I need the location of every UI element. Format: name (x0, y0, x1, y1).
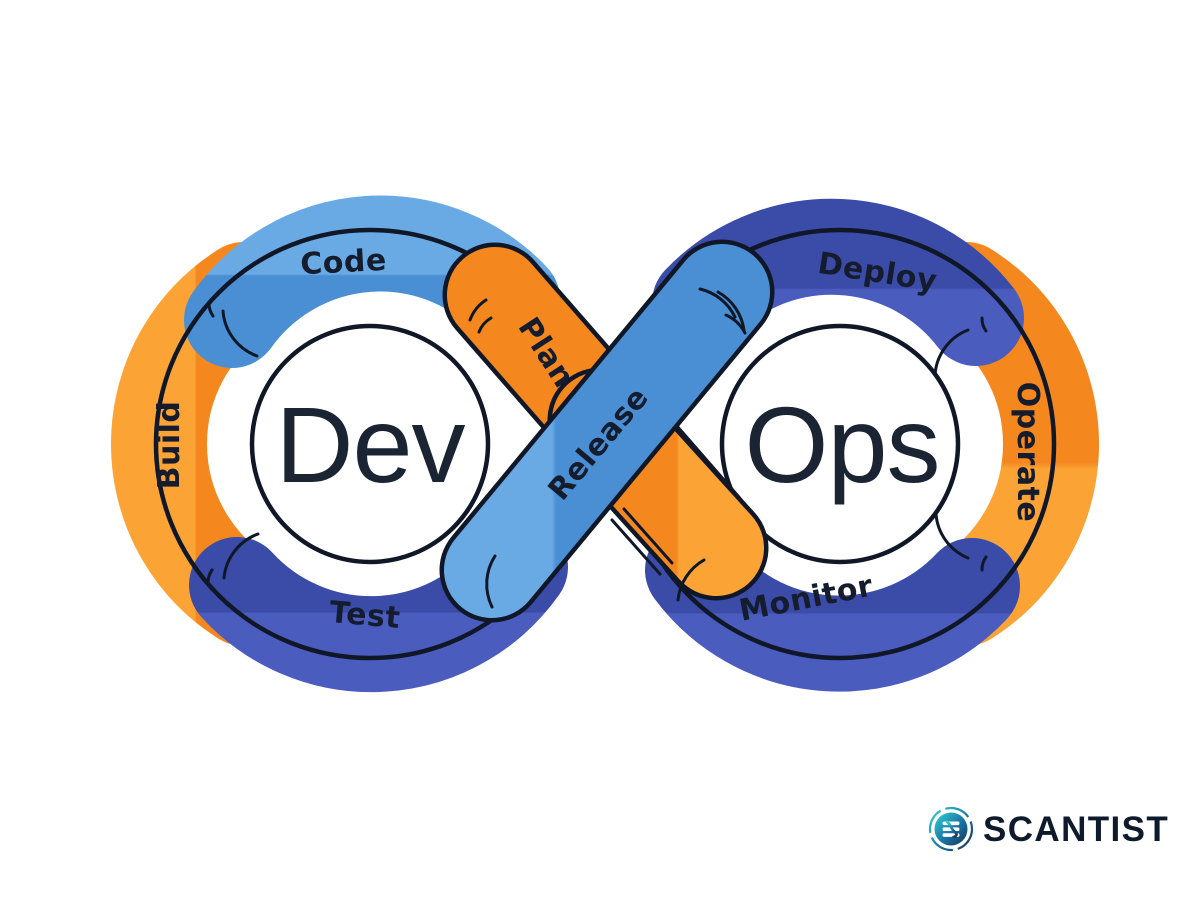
label-test: Test (328, 595, 402, 636)
devops-infinity-loop: Code Build Test Plan Release Deploy Oper… (0, 0, 1200, 900)
label-code: Code (299, 243, 387, 282)
diagram-canvas: Code Build Test Plan Release Deploy Oper… (0, 0, 1200, 900)
scantist-circle-icon (928, 806, 974, 852)
scantist-wordmark: SCANTIST (983, 812, 1169, 847)
label-dev: Dev (275, 384, 465, 505)
label-ops: Ops (744, 384, 939, 505)
label-operate: Operate (1010, 382, 1045, 523)
label-build: Build (152, 401, 187, 490)
scantist-logo[interactable]: SCANTIST (928, 806, 1169, 852)
